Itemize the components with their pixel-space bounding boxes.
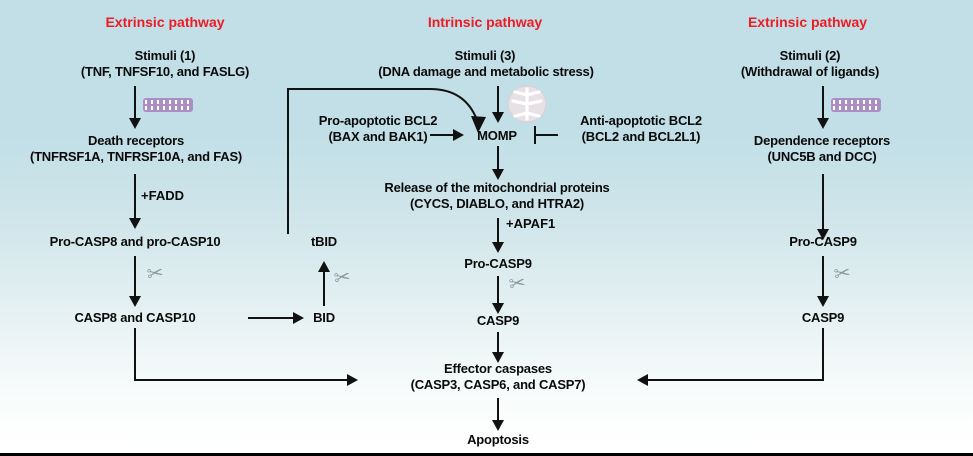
center-stimuli-title: Stimuli (3) <box>400 48 570 63</box>
release-detail: (CYCS, DIABLO, and HTRA2) <box>377 196 617 211</box>
left-arrow-stimuli-to-receptors-line <box>134 86 136 122</box>
right-arrow-stimuli-to-receptors-line <box>822 86 824 122</box>
antiapoptotic-inhibition-bar <box>534 126 536 144</box>
plasma-membrane-icon-right <box>831 98 881 112</box>
effector-caspases-title: Effector caspases <box>425 361 571 376</box>
left-arrow-receptors-to-procaspases-line <box>134 174 136 223</box>
left-procaspases: Pro-CASP8 and pro-CASP10 <box>19 234 251 249</box>
left-to-effector-vline <box>134 328 136 381</box>
left-arrow-procaspases-to-caspases-head <box>129 296 141 307</box>
header-intrinsic-center: Intrinsic pathway <box>385 14 585 30</box>
scissors-icon-bid-cleavage: ✂ <box>333 267 352 289</box>
left-arrow-stimuli-to-receptors-head <box>129 118 141 129</box>
left-caspases: CASP8 and CASP10 <box>28 310 242 325</box>
right-receptors-to-procasp9-line <box>822 174 824 234</box>
center-procaspase9: Pro-CASP9 <box>453 256 543 271</box>
effector-caspases-detail: (CASP3, CASP6, and CASP7) <box>382 377 614 392</box>
left-to-effector-head <box>347 374 358 386</box>
left-receptors-detail: (TNFRSF1A, TNFRSF10A, and FAS) <box>10 149 262 164</box>
apaf1-label: +APAF1 <box>506 216 555 231</box>
tbid-node: tBID <box>300 234 348 249</box>
right-receptors-detail: (UNC5B and DCC) <box>747 149 897 164</box>
caspases-to-bid-line <box>248 317 296 319</box>
bid-to-tbid-line <box>323 268 325 306</box>
center-stimuli-detail: (DNA damage and metabolic stress) <box>362 64 610 79</box>
bid-node: BID <box>303 310 345 325</box>
left-to-effector-hline <box>134 379 350 381</box>
right-to-effector-hline <box>648 379 824 381</box>
antiapoptotic-inhibition-line <box>534 134 558 136</box>
mitochondrion-icon <box>505 83 549 125</box>
release-to-procasp9-head <box>492 242 504 253</box>
right-procasp9-to-casp9-head <box>817 296 829 307</box>
plasma-membrane-icon-left <box>143 98 193 112</box>
right-to-effector-vline <box>822 328 824 381</box>
header-extrinsic-left: Extrinsic pathway <box>55 14 275 30</box>
header-extrinsic-right: Extrinsic pathway <box>700 14 915 30</box>
proapoptotic-to-momp-head <box>453 129 464 141</box>
pro-apoptotic-bcl2-detail: (BAX and BAK1) <box>298 129 458 144</box>
center-stimuli-to-momp-head <box>492 112 504 123</box>
apoptosis-pathway-diagram: Extrinsic pathway Intrinsic pathway Extr… <box>0 0 973 456</box>
scissors-icon-casp8-cleavage: ✂ <box>146 263 165 285</box>
effector-to-apoptosis-head <box>492 420 504 431</box>
right-stimuli-title: Stimuli (2) <box>735 48 885 63</box>
right-receptors-title: Dependence receptors <box>732 133 912 148</box>
anti-apoptotic-bcl2-title: Anti-apoptotic BCL2 <box>556 113 726 128</box>
bid-to-tbid-head <box>318 261 330 272</box>
fadd-label: +FADD <box>141 188 184 203</box>
left-arrow-receptors-to-procaspases-head <box>129 218 141 229</box>
scissors-icon-casp9-cleavage-right: ✂ <box>833 263 852 285</box>
left-receptors-title: Death receptors <box>60 133 212 148</box>
apoptosis-node: Apoptosis <box>458 432 538 447</box>
momp-to-release-head <box>492 169 504 180</box>
right-arrow-stimuli-to-receptors-head <box>817 118 829 129</box>
scissors-icon-casp9-cleavage-center: ✂ <box>508 273 527 295</box>
right-caspase9: CASP9 <box>787 310 859 325</box>
anti-apoptotic-bcl2-detail: (BCL2 and BCL2L1) <box>556 129 726 144</box>
pro-apoptotic-bcl2-title: Pro-apoptotic BCL2 <box>298 113 458 128</box>
right-procaspase9: Pro-CASP9 <box>778 234 868 249</box>
left-stimuli-detail: (TNF, TNFSF10, and FASLG) <box>35 64 295 79</box>
momp-node: MOMP <box>464 128 530 143</box>
release-title: Release of the mitochondrial proteins <box>357 180 637 195</box>
left-stimuli-title: Stimuli (1) <box>60 48 270 63</box>
right-to-effector-head <box>637 374 648 386</box>
center-caspase9: CASP9 <box>462 313 534 328</box>
right-stimuli-detail: (Withdrawal of ligands) <box>710 64 910 79</box>
